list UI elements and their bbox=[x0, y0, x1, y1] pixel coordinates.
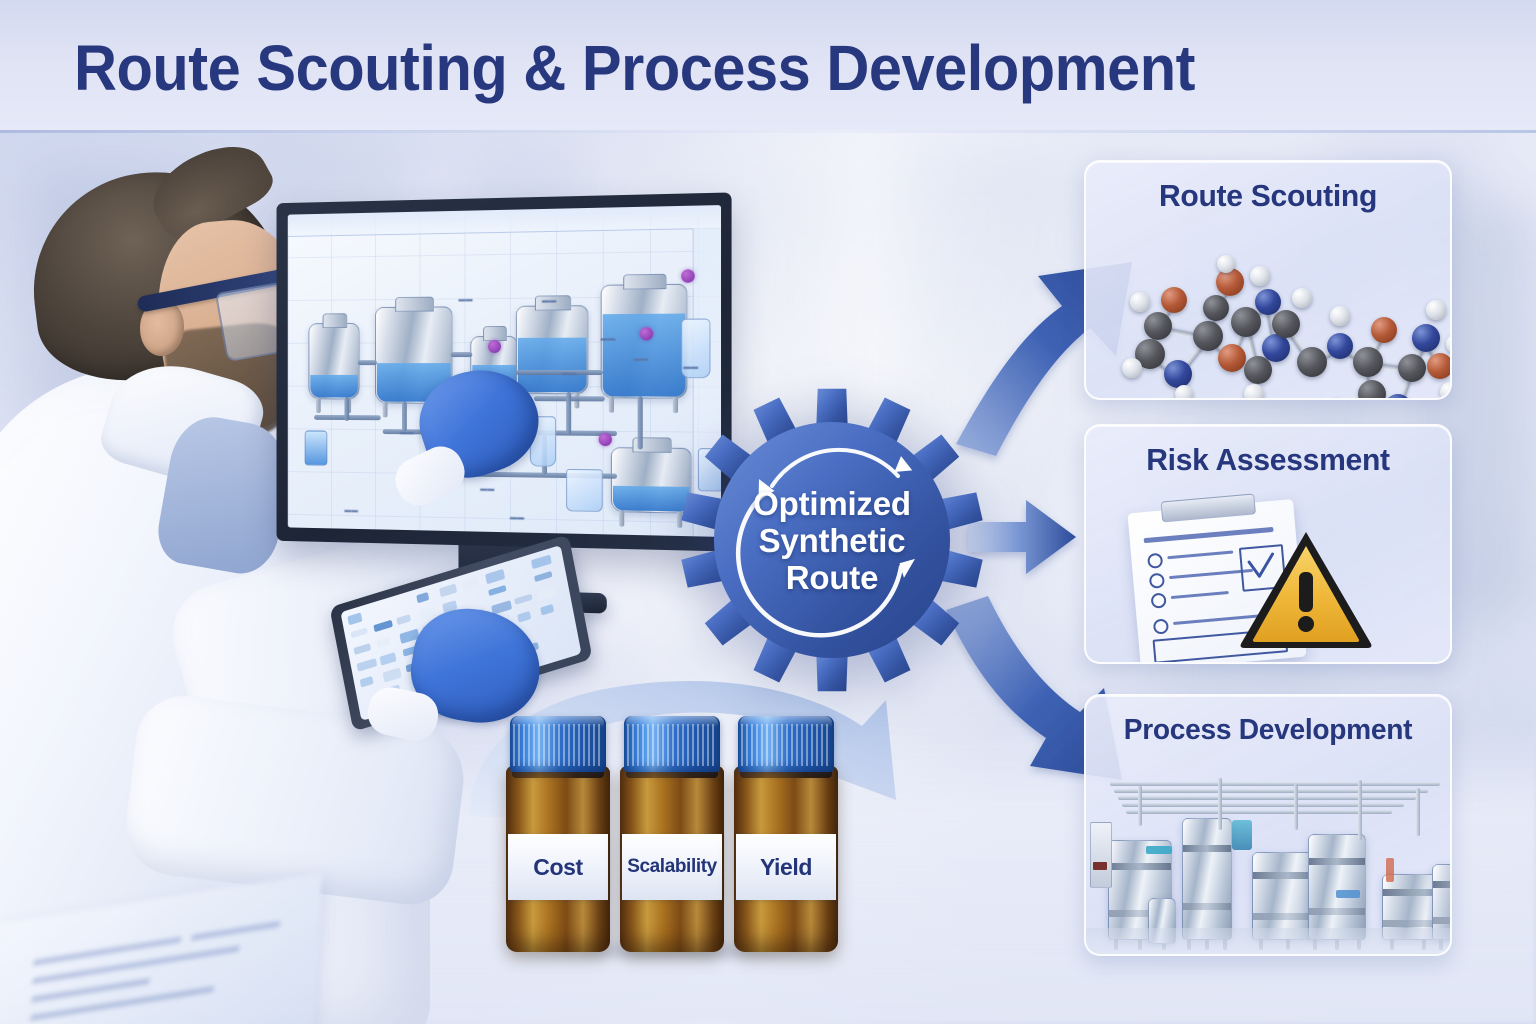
warning-triangle-icon bbox=[1236, 526, 1376, 650]
panel-risk-assessment-title: Risk Assessment bbox=[1091, 442, 1444, 478]
optimized-route-gear[interactable]: Optimized Synthetic Route bbox=[676, 382, 988, 698]
panel-process-development-title: Process Development bbox=[1091, 714, 1444, 747]
vial-label-text: Yield bbox=[760, 854, 812, 881]
page-title: Route Scouting & Process Development bbox=[74, 26, 1195, 110]
criteria-vials-group: Cost Scalability Yield bbox=[498, 706, 870, 964]
vial-label-text: Scalability bbox=[627, 856, 717, 878]
panel-route-scouting[interactable]: Route Scouting bbox=[1084, 160, 1452, 400]
vial-cost[interactable]: Cost bbox=[506, 716, 610, 956]
vial-cap bbox=[510, 716, 606, 772]
vial-scalability[interactable]: Scalability bbox=[620, 716, 724, 956]
vial-cap bbox=[738, 716, 834, 772]
vial-label-text: Cost bbox=[533, 854, 583, 881]
risk-assessment-art bbox=[1086, 492, 1450, 662]
infographic-canvas: ▬▬▬▬▬▬▬▬▬▬▬▬▬▬▬▬▬▬▬▬ bbox=[0, 0, 1536, 1024]
header-band: Route Scouting & Process Development bbox=[0, 0, 1536, 133]
molecule-icon bbox=[1086, 228, 1450, 398]
panel-route-scouting-title: Route Scouting bbox=[1091, 178, 1444, 214]
reactor-vessels-art bbox=[1086, 762, 1450, 954]
desktop-monitor[interactable]: ▬▬▬▬▬▬▬▬▬▬▬▬▬▬▬▬▬▬▬▬ bbox=[277, 192, 732, 551]
panel-risk-assessment[interactable]: Risk Assessment bbox=[1084, 424, 1452, 664]
vial-label: Scalability bbox=[622, 834, 722, 900]
vial-label: Cost bbox=[508, 834, 608, 900]
vial-yield[interactable]: Yield bbox=[734, 716, 838, 956]
monitor-screen: ▬▬▬▬▬▬▬▬▬▬▬▬▬▬▬▬▬▬▬▬ bbox=[288, 205, 721, 537]
vial-cap bbox=[624, 716, 720, 772]
panel-process-development[interactable]: Process Development bbox=[1084, 694, 1452, 956]
vial-label: Yield bbox=[736, 834, 836, 900]
